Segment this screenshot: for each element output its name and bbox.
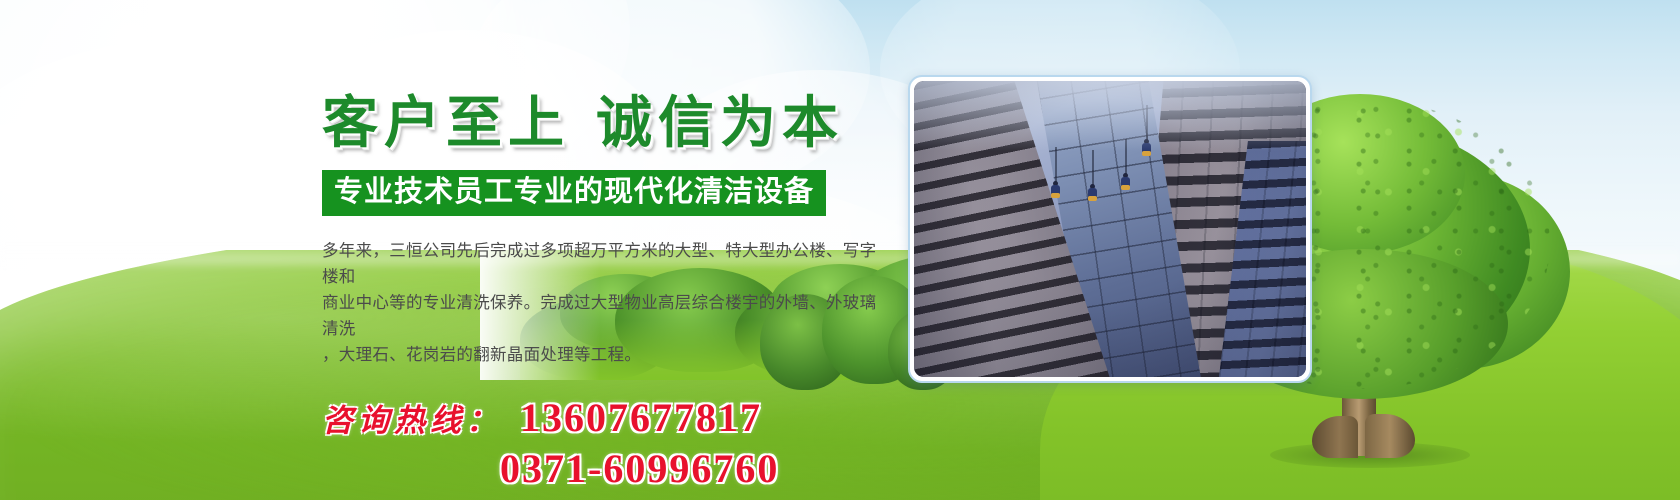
hotline-mobile-number[interactable]: 13607677817	[520, 394, 762, 441]
promo-banner: 客户至上诚信为本 专业技术员工专业的现代化清洁设备 多年来，三恒公司先后完成过多…	[0, 0, 1680, 500]
building-photo-card[interactable]	[908, 75, 1312, 383]
headline-phrase-1: 客户至上	[322, 93, 570, 155]
hotline-block: 咨询热线：13607677817 0371-60996760	[322, 394, 902, 492]
subtitle-banner: 专业技术员工专业的现代化清洁设备	[322, 170, 826, 216]
description-line: 商业中心等的专业清洗保养。完成过大型物业高层综合楼宇的外墙、外玻璃清洗	[322, 290, 882, 342]
hotline-label: 咨询热线：	[322, 395, 502, 440]
banner-copy-block: 客户至上诚信为本 专业技术员工专业的现代化清洁设备 多年来，三恒公司先后完成过多…	[322, 96, 902, 492]
page-title: 客户至上诚信为本	[322, 96, 902, 152]
tree-root-right	[1365, 414, 1415, 458]
headline-phrase-2: 诚信为本	[596, 93, 844, 155]
hotline-landline-number[interactable]: 0371-60996760	[500, 445, 902, 492]
building-photo	[914, 81, 1306, 377]
photo-vignette	[914, 81, 1306, 377]
description-line: 多年来，三恒公司先后完成过多项超万平方米的大型、特大型办公楼、写字楼和	[322, 238, 882, 290]
description-line: ，大理石、花岗岩的翻新晶面处理等工程。	[322, 342, 882, 368]
description-paragraph: 多年来，三恒公司先后完成过多项超万平方米的大型、特大型办公楼、写字楼和 商业中心…	[322, 238, 882, 368]
tree-root-left	[1312, 416, 1358, 458]
